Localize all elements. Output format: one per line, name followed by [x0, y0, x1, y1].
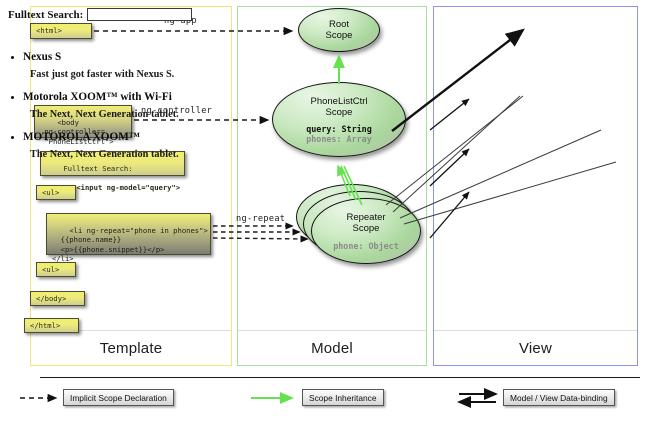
- code-box-html-close: </html>: [24, 318, 79, 333]
- view-phone-item: MOTOROLA XOOM™ The Next, Next Generation…: [8, 131, 637, 160]
- fulltext-search-line2: <input ng-model="query">: [76, 183, 180, 192]
- scope-repeater: Repeater Scope phone: Object: [311, 198, 421, 264]
- legend-item-implicit-scope-declaration: Implicit Scope Declaration: [63, 389, 174, 406]
- scope-repeater-prop-phone: phone: Object: [333, 241, 399, 251]
- edge-label-ng-repeat: ng-repeat: [236, 214, 285, 224]
- code-box-ul-close: <ul>: [36, 262, 76, 277]
- view-phone-name: Motorola XOOM™ with Wi-Fi: [23, 91, 637, 103]
- code-box-body-close: </body>: [30, 291, 85, 306]
- view-search-label: Fulltext Search:: [8, 9, 83, 21]
- legend-label-databinding: Model / View Data-binding: [503, 389, 615, 406]
- scope-repeater-title-2: Scope: [353, 223, 380, 234]
- code-box-li-ng-repeat: <li ng-repeat="phone in phones"> {{phone…: [46, 213, 211, 255]
- fulltext-search-line1: Fulltext Search:: [63, 164, 132, 173]
- view-phone-list: Nexus S Fast just got faster with Nexus …: [8, 51, 637, 160]
- diagram-canvas: Template Model View <html> <body ng-cont…: [0, 0, 645, 425]
- legend-rule: [40, 377, 640, 378]
- column-label-template: Template: [31, 331, 231, 365]
- code-box-ul-open: <ul>: [36, 185, 76, 200]
- view-search-row: Fulltext Search:: [8, 8, 637, 21]
- view-phone-name: Nexus S: [23, 51, 637, 63]
- view-content: Fulltext Search: Nexus S Fast just got f…: [8, 8, 637, 160]
- view-phone-snippet: The Next, Next Generation tablet.: [30, 149, 637, 160]
- view-phone-snippet: The Next, Next Generation tablet.: [30, 109, 637, 120]
- view-phone-item: Motorola XOOM™ with Wi-Fi The Next, Next…: [8, 91, 637, 120]
- view-phone-name: MOTOROLA XOOM™: [23, 131, 637, 143]
- legend-label-implicit: Implicit Scope Declaration: [63, 389, 174, 406]
- column-label-model: Model: [238, 331, 426, 365]
- scope-repeater-title-1: Repeater: [346, 212, 385, 223]
- legend-glyph-databinding: [459, 394, 496, 402]
- view-phone-item: Nexus S Fast just got faster with Nexus …: [8, 51, 637, 80]
- column-label-view: View: [434, 331, 637, 365]
- legend-item-scope-inheritance: Scope Inheritance: [302, 389, 384, 406]
- view-search-input[interactable]: [87, 8, 192, 21]
- legend-label-inheritance: Scope Inheritance: [302, 389, 384, 406]
- legend-item-model-view-data-binding: Model / View Data-binding: [503, 389, 615, 406]
- view-phone-snippet: Fast just got faster with Nexus S.: [30, 69, 637, 80]
